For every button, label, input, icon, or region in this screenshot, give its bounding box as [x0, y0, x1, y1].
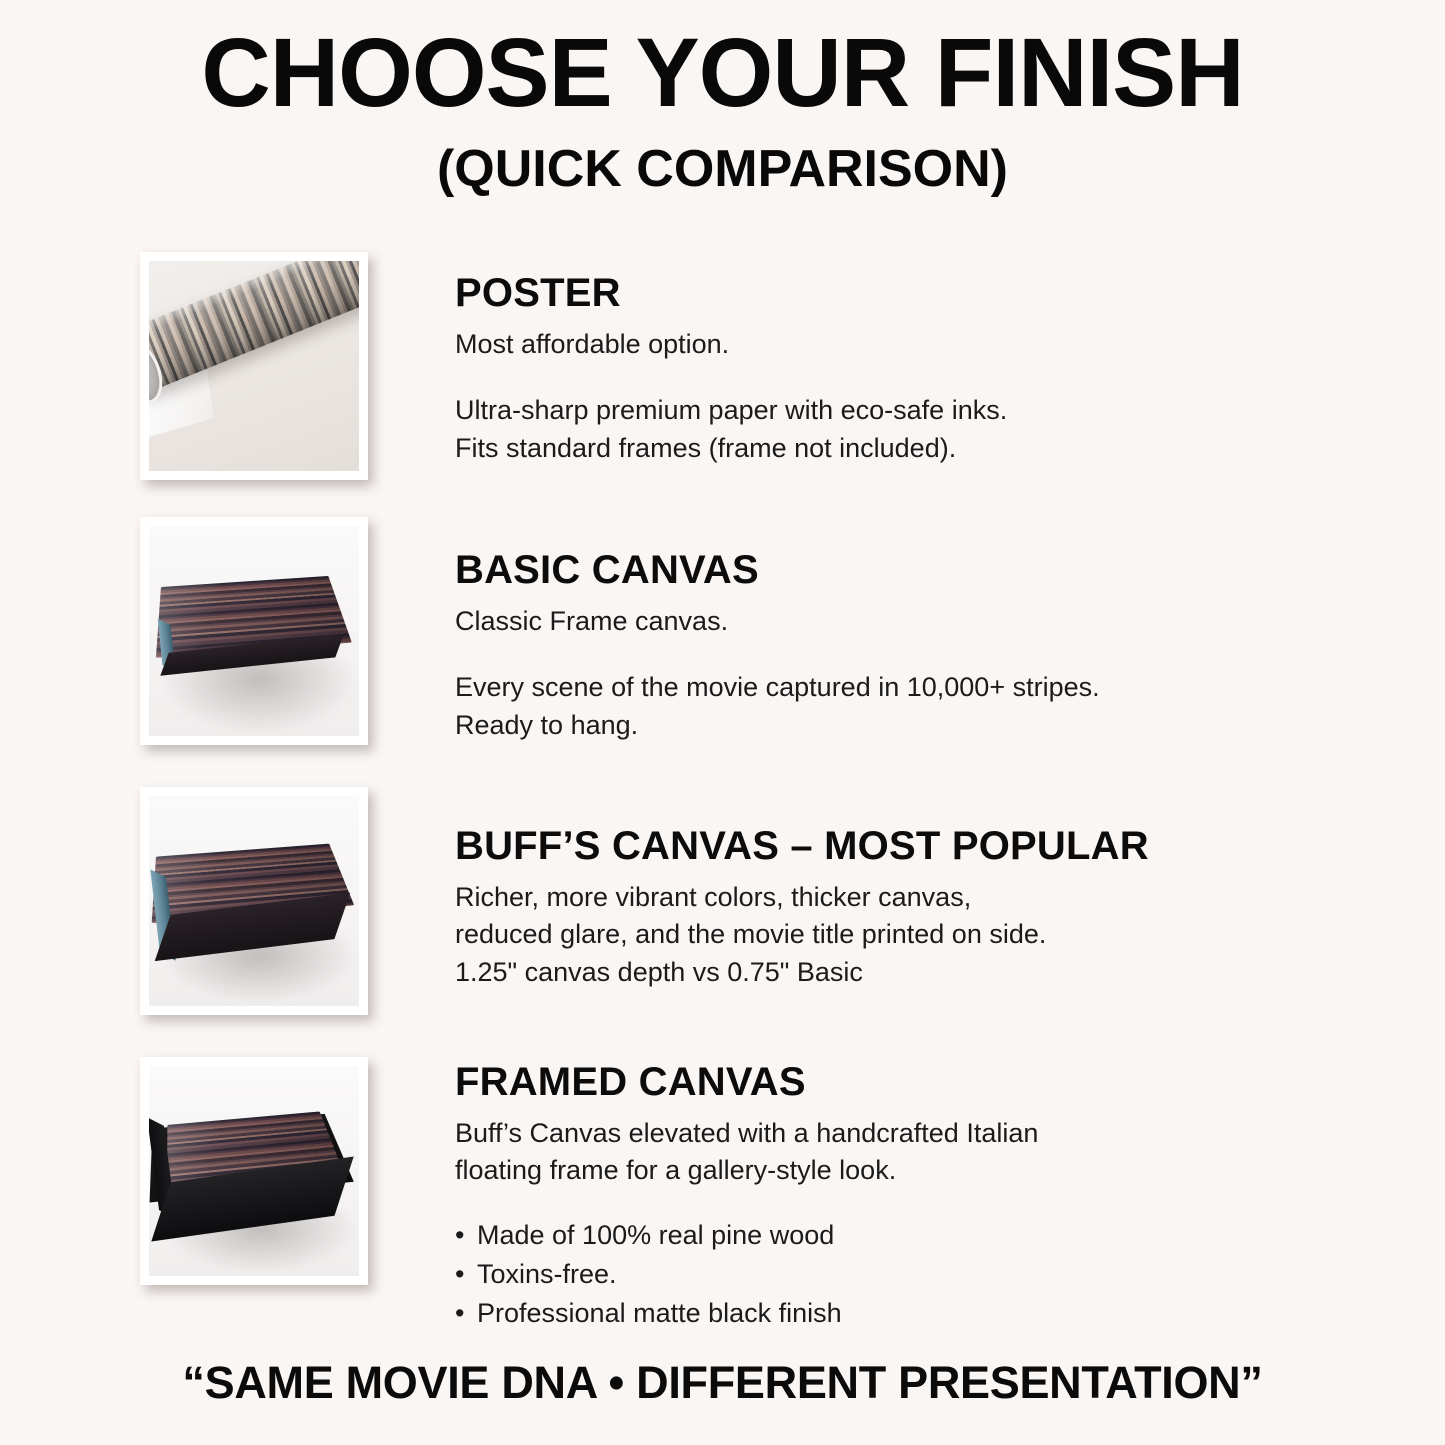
- basic-canvas-text-block: BASIC CANVAS Classic Frame canvas. Every…: [455, 517, 1100, 744]
- list-item: Professional matte black finish: [455, 1294, 1038, 1333]
- option-body-basic-canvas: Every scene of the movie captured in 10,…: [455, 669, 1100, 744]
- framed-canvas-bullet-list: Made of 100% real pine wood Toxins-free.…: [455, 1216, 1038, 1333]
- option-body-line: reduced glare, and the movie title print…: [455, 916, 1149, 953]
- option-lead-poster: Most affordable option.: [455, 326, 1007, 362]
- poster-photo-card: [140, 252, 368, 480]
- option-body-line: Buff’s Canvas elevated with a handcrafte…: [455, 1115, 1038, 1152]
- option-row-buffs-canvas: BUFF’S CANVAS – MOST POPULAR Richer, mor…: [140, 787, 1149, 1015]
- framed-canvas-text-block: FRAMED CANVAS Buff’s Canvas elevated wit…: [455, 1057, 1038, 1333]
- list-item: Made of 100% real pine wood: [455, 1216, 1038, 1255]
- page-subtitle: (QUICK COMPARISON): [0, 141, 1445, 198]
- option-body-line: Ready to hang.: [455, 707, 1100, 744]
- footer: “SAME MOVIE DNA • DIFFERENT PRESENTATION…: [0, 1357, 1445, 1409]
- buffs-canvas-photo-card: [140, 787, 368, 1015]
- option-title-poster: POSTER: [455, 272, 1007, 314]
- poster-text-block: POSTER Most affordable option. Ultra-sha…: [455, 252, 1007, 467]
- option-body-buffs-canvas: Richer, more vibrant colors, thicker can…: [455, 879, 1149, 991]
- list-item: Toxins-free.: [455, 1255, 1038, 1294]
- framed-canvas-photo: [149, 1066, 359, 1276]
- page-title: CHOOSE YOUR FINISH: [7, 24, 1438, 123]
- buffs-canvas-text-block: BUFF’S CANVAS – MOST POPULAR Richer, mor…: [455, 787, 1149, 991]
- option-row-framed-canvas: FRAMED CANVAS Buff’s Canvas elevated wit…: [140, 1057, 1038, 1333]
- poster-roll-photo: [149, 261, 359, 471]
- infographic-page: CHOOSE YOUR FINISH (QUICK COMPARISON) PO…: [0, 0, 1445, 1445]
- option-body-poster: Ultra-sharp premium paper with eco-safe …: [455, 392, 1007, 467]
- option-title-buffs-canvas: BUFF’S CANVAS – MOST POPULAR: [455, 825, 1149, 867]
- basic-canvas-photo: [149, 526, 359, 736]
- header: CHOOSE YOUR FINISH (QUICK COMPARISON): [0, 0, 1445, 198]
- option-body-line: floating frame for a gallery-style look.: [455, 1152, 1038, 1189]
- option-lead-basic-canvas: Classic Frame canvas.: [455, 603, 1100, 639]
- option-body-line: Richer, more vibrant colors, thicker can…: [455, 879, 1149, 916]
- option-body-line: Every scene of the movie captured in 10,…: [455, 669, 1100, 706]
- option-row-poster: POSTER Most affordable option. Ultra-sha…: [140, 252, 1007, 480]
- option-title-basic-canvas: BASIC CANVAS: [455, 549, 1100, 591]
- option-title-framed-canvas: FRAMED CANVAS: [455, 1061, 1038, 1103]
- option-body-line: Fits standard frames (frame not included…: [455, 430, 1007, 467]
- footer-tagline: “SAME MOVIE DNA • DIFFERENT PRESENTATION…: [0, 1357, 1445, 1409]
- basic-canvas-photo-card: [140, 517, 368, 745]
- buffs-canvas-photo: [149, 796, 359, 1006]
- option-body-line: Ultra-sharp premium paper with eco-safe …: [455, 392, 1007, 429]
- option-body-framed-canvas: Buff’s Canvas elevated with a handcrafte…: [455, 1115, 1038, 1190]
- option-body-line: 1.25" canvas depth vs 0.75" Basic: [455, 954, 1149, 991]
- framed-canvas-photo-card: [140, 1057, 368, 1285]
- option-row-basic-canvas: BASIC CANVAS Classic Frame canvas. Every…: [140, 517, 1100, 745]
